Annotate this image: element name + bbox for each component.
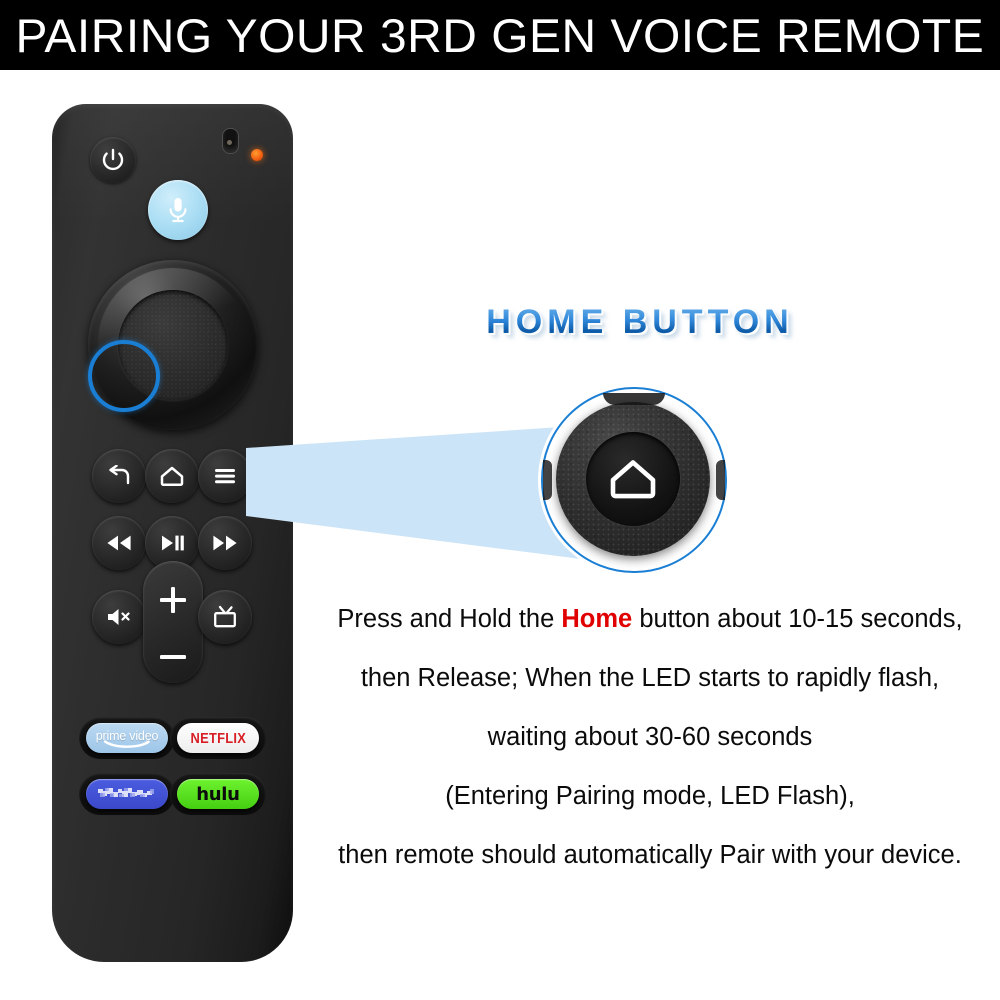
- minus-icon: [158, 654, 188, 660]
- power-button[interactable]: [90, 137, 136, 183]
- instruction-line: then remote should automatically Pair wi…: [300, 826, 1000, 885]
- home-button-magnifier: [541, 387, 727, 573]
- plus-icon: [158, 585, 188, 615]
- netflix-label: NETFLIX: [190, 730, 246, 747]
- header-banner: PAIRING YOUR 3RD GEN VOICE REMOTE: [0, 0, 1000, 70]
- pairing-instruction-page: PAIRING YOUR 3RD GEN VOICE REMOTE: [0, 0, 1000, 1000]
- censored-logo-icon: [86, 779, 168, 809]
- app-button-disney-plus[interactable]: [86, 779, 168, 809]
- home-button[interactable]: [145, 449, 199, 503]
- instruction-line: (Entering Pairing mode, LED Flash),: [300, 767, 1000, 826]
- mute-icon: [105, 606, 133, 628]
- volume-up-button[interactable]: [158, 585, 188, 620]
- home-button-highlight-ring: [88, 340, 160, 412]
- instruction-line-0-post: button about 10-15 seconds,: [632, 605, 962, 633]
- page-title: PAIRING YOUR 3RD GEN VOICE REMOTE: [16, 8, 985, 63]
- magnified-left-notch: [543, 460, 552, 500]
- back-button[interactable]: [92, 449, 146, 503]
- fast-forward-button[interactable]: [198, 516, 252, 570]
- microphone-icon: [165, 195, 191, 225]
- app-button-prime-video[interactable]: prime video: [86, 723, 168, 753]
- play-pause-icon: [159, 535, 185, 551]
- magnified-home-button[interactable]: [586, 432, 680, 526]
- voice-search-button[interactable]: [148, 180, 208, 240]
- home-icon: [159, 464, 185, 488]
- instruction-line: waiting about 30-60 seconds: [300, 708, 1000, 767]
- back-arrow-icon: [106, 465, 132, 487]
- app-button-hulu[interactable]: hulu: [177, 779, 259, 809]
- hulu-label: hulu: [196, 784, 239, 805]
- amazon-smile-icon: [103, 740, 151, 749]
- volume-rocker[interactable]: [143, 561, 203, 683]
- volume-down-button[interactable]: [158, 647, 188, 665]
- live-tv-button[interactable]: [198, 590, 252, 644]
- microphone-hole-icon: [222, 128, 239, 154]
- magnified-top-notch: [603, 393, 665, 405]
- instruction-text-block: Press and Hold the Home button about 10-…: [300, 590, 1000, 885]
- status-led-indicator: [251, 149, 263, 161]
- callout-title: HOME BUTTON: [480, 303, 800, 342]
- instruction-highlight-home: Home: [561, 605, 632, 633]
- mute-button[interactable]: [92, 590, 146, 644]
- menu-icon: [212, 466, 238, 486]
- magnified-right-notch: [716, 460, 725, 500]
- rewind-button[interactable]: [92, 516, 146, 570]
- fast-forward-icon: [211, 535, 239, 551]
- instruction-line: then Release; When the LED starts to rap…: [300, 649, 1000, 708]
- instruction-line-0-pre: Press and Hold the: [337, 605, 561, 633]
- instruction-line: Press and Hold the Home button about 10-…: [300, 590, 1000, 649]
- tv-icon: [212, 605, 238, 629]
- home-icon: [607, 455, 659, 503]
- menu-button[interactable]: [198, 449, 252, 503]
- rewind-icon: [105, 535, 133, 551]
- power-icon: [100, 147, 126, 173]
- app-button-netflix[interactable]: NETFLIX: [177, 723, 259, 753]
